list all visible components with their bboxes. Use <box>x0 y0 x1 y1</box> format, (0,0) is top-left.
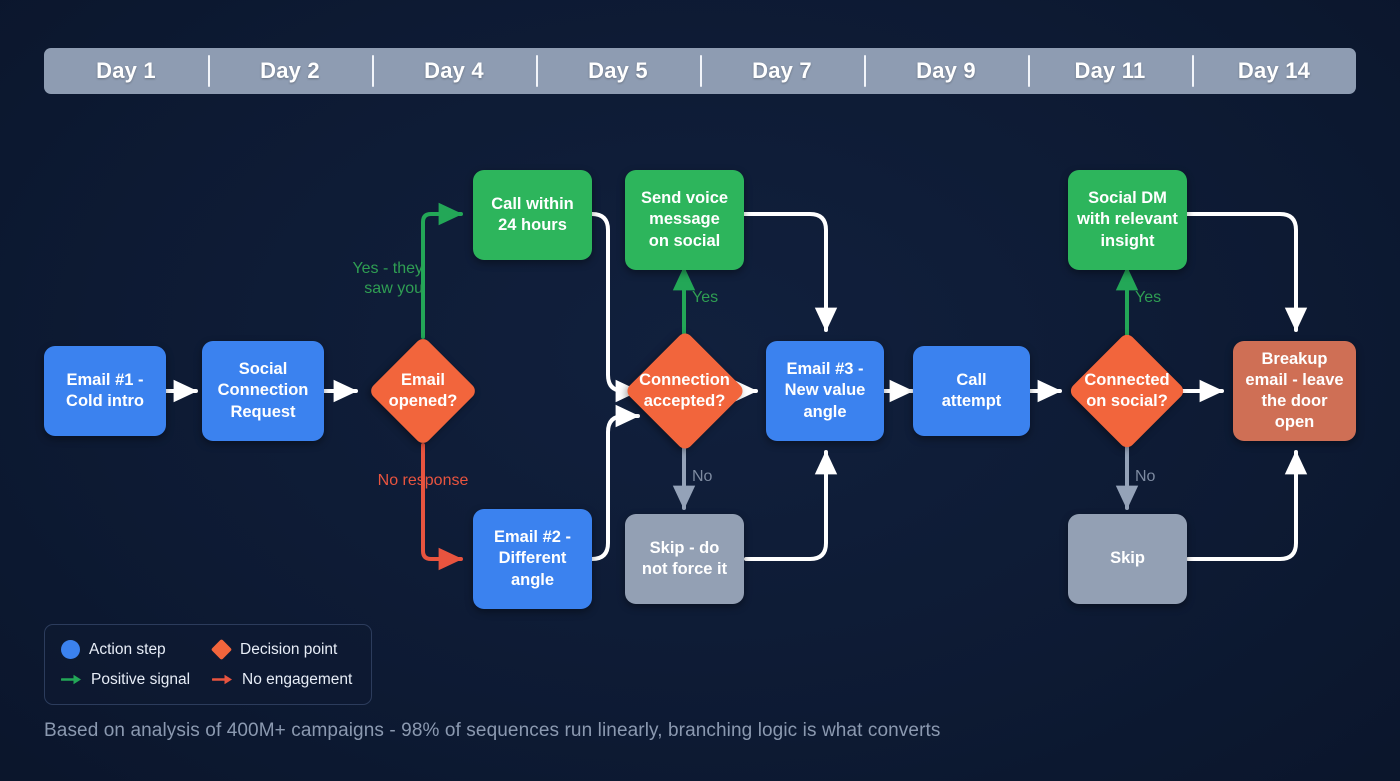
edge-label-yes-connection-accepted: Yes <box>692 288 732 308</box>
red-arrow-icon <box>212 673 233 686</box>
timeline-day-4: Day 4 <box>372 48 536 94</box>
green-arrow-icon <box>61 673 82 686</box>
node-skip[interactable]: Skip <box>1068 514 1187 604</box>
legend-label-no-engagement: No engagement <box>242 671 352 689</box>
footer-caption: Based on analysis of 400M+ campaigns - 9… <box>44 720 940 742</box>
timeline-day-9: Day 9 <box>864 48 1028 94</box>
legend-label-positive-signal: Positive signal <box>91 671 190 689</box>
node-social-dm-relevant-insight[interactable]: Social DMwith relevantinsight <box>1068 170 1187 270</box>
node-social-connection-request[interactable]: SocialConnectionRequest <box>202 341 324 441</box>
edge-social-dm-to-breakup <box>1187 214 1296 330</box>
legend-item-decision-point: Decision point <box>212 636 355 663</box>
edge-label-yes-they-saw-you: Yes - theysaw you <box>323 259 423 299</box>
timeline-day-1: Day 1 <box>44 48 208 94</box>
node-email1-cold-intro[interactable]: Email #1 -Cold intro <box>44 346 166 436</box>
node-email-opened-decision[interactable]: Emailopened? <box>363 331 483 451</box>
node-connected-on-social-label: Connectedon social? <box>1084 370 1169 412</box>
node-call-attempt[interactable]: Callattempt <box>913 346 1030 436</box>
edge-email-opened-yes-to-call24 <box>423 214 461 337</box>
timeline-day-7: Day 7 <box>700 48 864 94</box>
timeline-day-14: Day 14 <box>1192 48 1356 94</box>
node-connection-accepted-label: Connectionaccepted? <box>639 370 730 412</box>
edge-label-no-connected-social: No <box>1135 467 1175 487</box>
node-connected-on-social-decision[interactable]: Connectedon social? <box>1057 331 1197 451</box>
edge-skip-to-breakup <box>1188 452 1296 559</box>
edge-label-no-response: No response <box>362 471 484 491</box>
legend-panel: Action step Decision point Positive sign… <box>44 624 372 705</box>
timeline-bar: Day 1 Day 2 Day 4 Day 5 Day 7 Day 9 Day … <box>44 48 1356 94</box>
node-email3-new-value-angle[interactable]: Email #3 -New valueangle <box>766 341 884 441</box>
node-connection-accepted-decision[interactable]: Connectionaccepted? <box>612 331 757 451</box>
legend-item-positive-signal: Positive signal <box>61 666 204 693</box>
legend-label-decision-point: Decision point <box>240 641 337 659</box>
circle-icon <box>61 640 80 659</box>
edge-voice-message-to-email3 <box>744 214 826 330</box>
edge-label-no-connection-accepted: No <box>692 467 732 487</box>
timeline-day-5: Day 5 <box>536 48 700 94</box>
diamond-icon <box>211 639 232 660</box>
node-email2-different-angle[interactable]: Email #2 -Differentangle <box>473 509 592 609</box>
legend-item-action-step: Action step <box>61 636 204 663</box>
legend-label-action-step: Action step <box>89 641 166 659</box>
node-email-opened-label: Emailopened? <box>389 370 458 412</box>
legend-item-no-engagement: No engagement <box>212 666 355 693</box>
edge-email-opened-no-to-email2 <box>423 445 461 559</box>
timeline-day-11: Day 11 <box>1028 48 1192 94</box>
timeline-day-2: Day 2 <box>208 48 372 94</box>
node-call-within-24-hours[interactable]: Call within24 hours <box>473 170 592 260</box>
node-send-voice-message[interactable]: Send voicemessageon social <box>625 170 744 270</box>
node-skip-do-not-force-it[interactable]: Skip - donot force it <box>625 514 744 604</box>
edge-label-yes-connected-social: Yes <box>1135 288 1175 308</box>
edge-skip-noforce-to-email3 <box>746 452 826 559</box>
node-breakup-email[interactable]: Breakupemail - leavethe door open <box>1233 341 1356 441</box>
